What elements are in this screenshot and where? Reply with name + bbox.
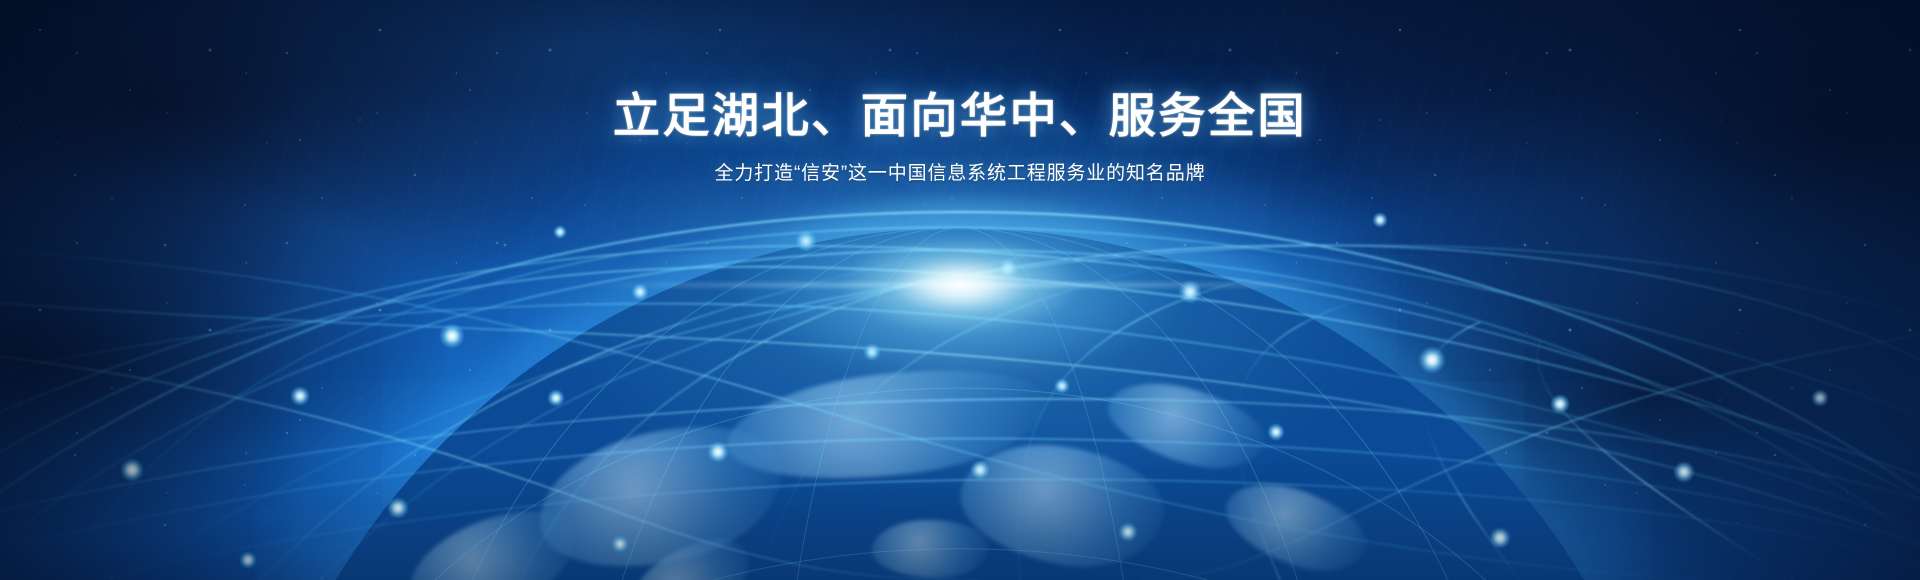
banner-subline: 全力打造“信安”这一中国信息系统工程服务业的知名品牌 <box>0 160 1920 189</box>
network-nodes <box>120 212 1829 569</box>
center-light-flare <box>580 284 1340 287</box>
banner-copy: 立足湖北、面向华中、服务全国 全力打造“信安”这一中国信息系统工程服务业的知名品… <box>0 86 1920 189</box>
banner-headline: 立足湖北、面向华中、服务全国 <box>0 86 1920 146</box>
hero-banner: 立足湖北、面向华中、服务全国 全力打造“信安”这一中国信息系统工程服务业的知名品… <box>0 0 1920 580</box>
